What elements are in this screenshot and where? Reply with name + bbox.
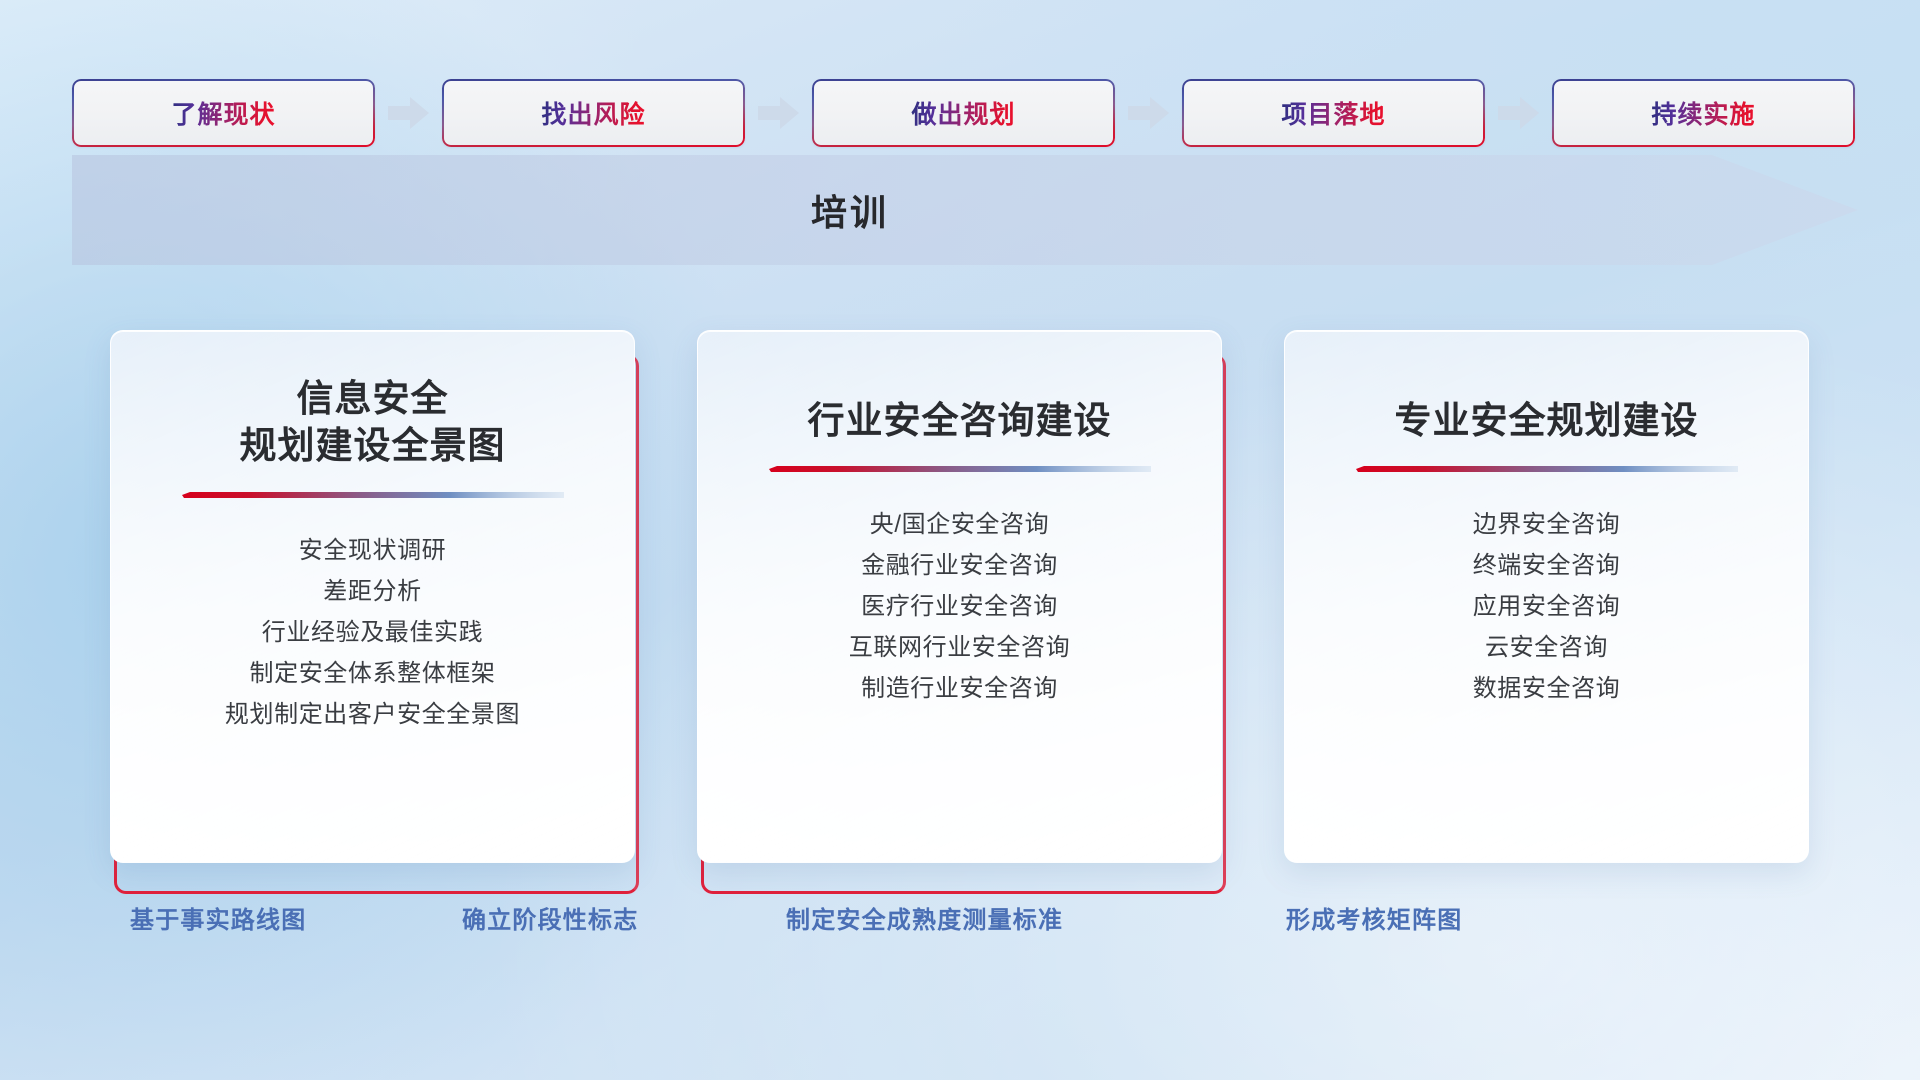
process-step-4[interactable]: 项目落地 (1182, 79, 1485, 147)
card-2-list-item-1: 央/国企安全咨询 (698, 504, 1221, 545)
card-2-title: 行业安全咨询建设 (740, 397, 1180, 444)
process-step-3-label: 做出规划 (911, 95, 1015, 131)
card-3-list-item-5: 数据安全咨询 (1285, 668, 1808, 709)
caption-4: 形成考核矩阵图 (1286, 900, 1462, 935)
process-step-strip: 了解现状 找出风险 做出规划 项目落地 (72, 79, 1856, 147)
card-1-list-item-4: 制定安全体系整体框架 (111, 653, 634, 694)
card-1-list-item-3: 行业经验及最佳实践 (111, 612, 634, 653)
card-2-list: 央/国企安全咨询 金融行业安全咨询 医疗行业安全咨询 互联网行业安全咨询 制造行… (698, 504, 1221, 709)
caption-3: 制定安全成熟度测量标准 (786, 900, 1063, 935)
training-banner-label: 培训 (72, 155, 1628, 265)
card-1-list-item-2: 差距分析 (111, 571, 634, 612)
card-3[interactable]: 专业安全规划建设 (1284, 330, 1809, 863)
card-3-list: 边界安全咨询 终端安全咨询 应用安全咨询 云安全咨询 数据安全咨询 (1285, 504, 1808, 709)
process-arrow-1-icon (375, 79, 442, 147)
card-slot-1: 信息安全 规划建设全景图 (110, 330, 635, 875)
card-2-list-item-5: 制造行业安全咨询 (698, 668, 1221, 709)
caption-2: 确立阶段性标志 (462, 900, 638, 935)
process-step-1[interactable]: 了解现状 (72, 79, 375, 147)
card-2-divider (769, 466, 1151, 478)
card-3-list-item-2: 终端安全咨询 (1285, 545, 1808, 586)
process-arrow-3-icon (1115, 79, 1182, 147)
caption-1: 基于事实路线图 (130, 900, 306, 935)
process-step-1-label: 了解现状 (171, 95, 275, 131)
process-step-5[interactable]: 持续实施 (1552, 79, 1855, 147)
training-banner: 培训 (72, 155, 1858, 265)
card-2-list-item-2: 金融行业安全咨询 (698, 545, 1221, 586)
card-slot-2: 行业安全咨询建设 (697, 330, 1222, 875)
card-1-list: 安全现状调研 差距分析 行业经验及最佳实践 制定安全体系整体框架 规划制定出客户… (111, 530, 634, 735)
card-1-divider (182, 492, 564, 504)
card-1[interactable]: 信息安全 规划建设全景图 (110, 330, 635, 863)
process-step-3[interactable]: 做出规划 (812, 79, 1115, 147)
card-3-list-item-1: 边界安全咨询 (1285, 504, 1808, 545)
card-3-title: 专业安全规划建设 (1327, 397, 1767, 444)
card-2[interactable]: 行业安全咨询建设 (697, 330, 1222, 863)
card-3-list-item-4: 云安全咨询 (1285, 627, 1808, 668)
card-slot-3: 专业安全规划建设 (1284, 330, 1809, 875)
card-row: 信息安全 规划建设全景图 (110, 330, 1810, 875)
process-step-2-label: 找出风险 (541, 95, 645, 131)
process-step-2[interactable]: 找出风险 (442, 79, 745, 147)
process-step-5-label: 持续实施 (1651, 95, 1755, 131)
card-2-list-item-3: 医疗行业安全咨询 (698, 586, 1221, 627)
slide-canvas: 了解现状 找出风险 做出规划 项目落地 (0, 0, 1920, 1080)
process-arrow-4-icon (1485, 79, 1552, 147)
caption-row: 基于事实路线图 确立阶段性标志 制定安全成熟度测量标准 形成考核矩阵图 (0, 900, 1920, 952)
card-1-list-item-1: 安全现状调研 (111, 530, 634, 571)
process-arrow-2-icon (745, 79, 812, 147)
card-1-title: 信息安全 规划建设全景图 (153, 375, 593, 470)
process-step-4-label: 项目落地 (1281, 95, 1385, 131)
card-3-list-item-3: 应用安全咨询 (1285, 586, 1808, 627)
card-1-list-item-5: 规划制定出客户安全全景图 (111, 694, 634, 735)
card-2-list-item-4: 互联网行业安全咨询 (698, 627, 1221, 668)
card-3-divider (1356, 466, 1738, 478)
